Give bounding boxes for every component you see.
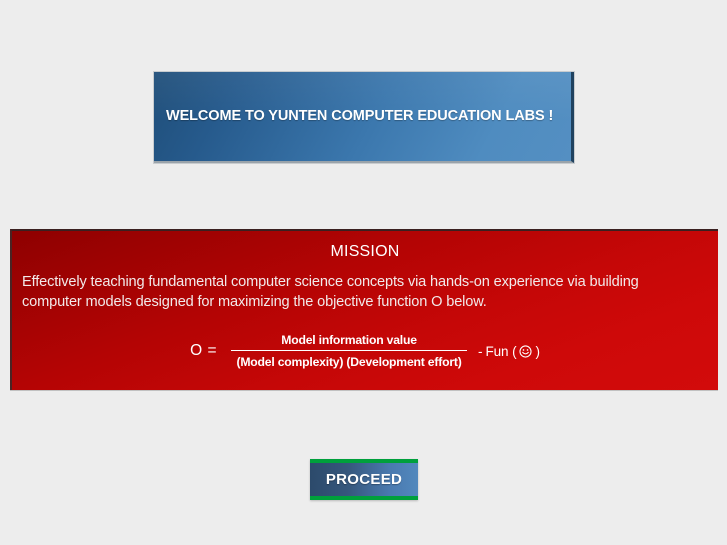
objective-function-formula: O = Model information value (Model compl… (12, 334, 718, 368)
formula-denominator: (Model complexity) (Development effort) (236, 351, 461, 368)
mission-heading: MISSION (12, 243, 718, 261)
formula-fun-close: ) (535, 344, 539, 359)
formula-left-hand-side: O = (190, 342, 217, 360)
mission-panel: MISSION Effectively teaching fundamental… (10, 229, 718, 390)
formula-fun-open: Fun ( (485, 344, 516, 359)
formula-numerator: Model information value (281, 334, 417, 350)
formula-fraction: Model information value (Model complexit… (231, 334, 467, 368)
welcome-title: WELCOME TO YUNTEN COMPUTER EDUCATION LAB… (166, 108, 563, 124)
proceed-button-label: PROCEED (326, 471, 402, 488)
formula-operator: - (478, 344, 482, 359)
formula-fun-term: - Fun ( ) (478, 344, 540, 359)
welcome-banner: WELCOME TO YUNTEN COMPUTER EDUCATION LAB… (154, 72, 574, 163)
proceed-button[interactable]: PROCEED (310, 459, 418, 500)
smiley-face-icon (519, 345, 532, 358)
mission-body-text: Effectively teaching fundamental compute… (22, 273, 672, 312)
